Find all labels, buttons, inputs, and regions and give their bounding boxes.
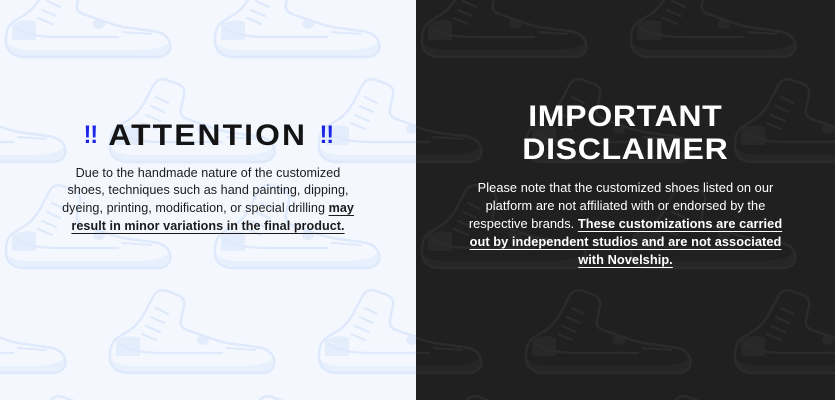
disclaimer-banner: !! ATTENTION !! Due to the handmade natu… (0, 0, 835, 400)
disclaimer-title-line2: DISCLAIMER (522, 134, 728, 166)
attention-panel: !! ATTENTION !! Due to the handmade natu… (0, 0, 416, 400)
disclaimer-title-line1: IMPORTANT (522, 101, 728, 133)
attention-heading: !! ATTENTION !! (83, 121, 334, 151)
double-exclamation-right-icon: !! (319, 123, 332, 148)
attention-body-normal: Due to the handmade nature of the custom… (62, 166, 349, 215)
attention-title: ATTENTION (109, 121, 308, 151)
attention-body: Due to the handmade nature of the custom… (58, 165, 358, 235)
important-disclaimer-panel: IMPORTANT DISCLAIMER Please note that th… (416, 0, 835, 400)
double-exclamation-left-icon: !! (83, 123, 96, 148)
disclaimer-content: IMPORTANT DISCLAIMER Please note that th… (416, 0, 835, 400)
disclaimer-heading: IMPORTANT DISCLAIMER (522, 101, 728, 165)
disclaimer-body: Please note that the customized shoes li… (466, 179, 786, 269)
attention-content: !! ATTENTION !! Due to the handmade natu… (0, 0, 416, 400)
